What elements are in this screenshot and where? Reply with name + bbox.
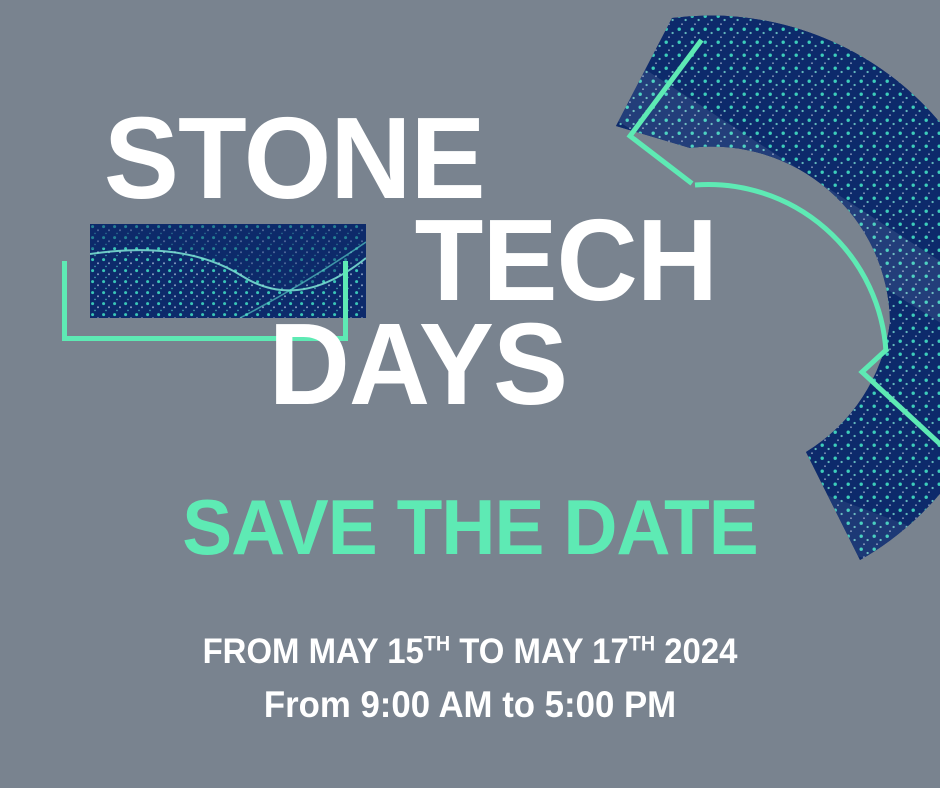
poster-canvas: STONE TECH DAYS SAVE THE DATE FROM MAY 1… (0, 0, 940, 788)
title-line-days: DAYS (269, 312, 567, 416)
mint-chevron-top (630, 42, 700, 182)
event-date-line: FROM MAY 15TH TO MAY 17TH 2024 (28, 634, 912, 669)
date-suffix: 2024 (655, 632, 737, 671)
title-line-tech: TECH (415, 208, 717, 312)
date-ordinal-second: TH (629, 632, 655, 655)
mint-inner-arc (695, 185, 886, 352)
mint-chevron-bottom (862, 350, 940, 444)
date-middle: TO MAY 17 (450, 632, 629, 671)
date-ordinal-first: TH (424, 632, 450, 655)
event-time-line: From 9:00 AM to 5:00 PM (28, 686, 912, 723)
date-prefix: FROM MAY 15 (203, 632, 424, 671)
save-the-date-heading: SAVE THE DATE (19, 488, 921, 566)
